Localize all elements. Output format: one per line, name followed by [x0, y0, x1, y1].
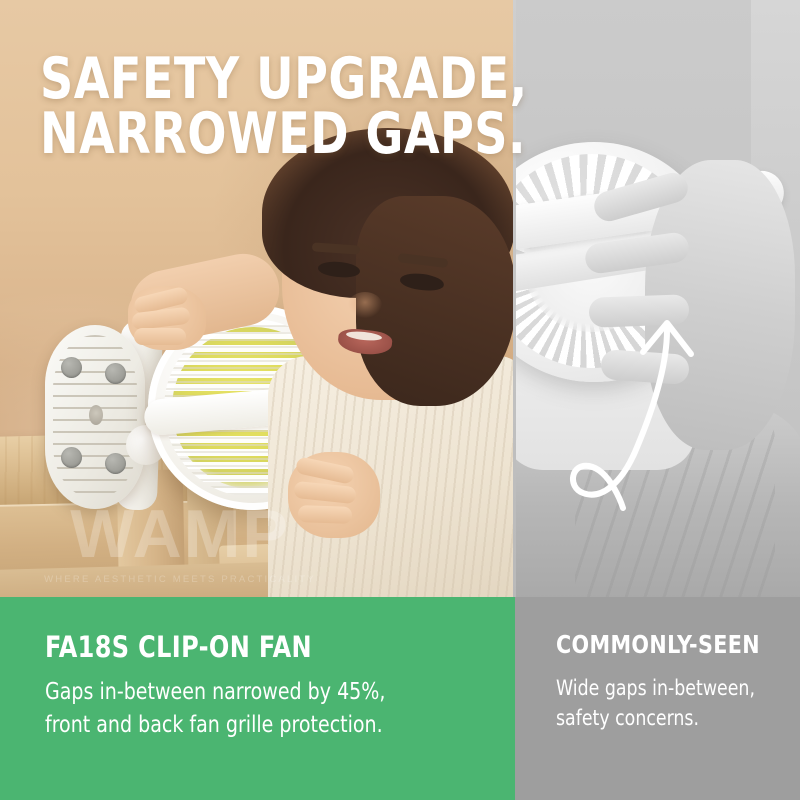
finger [298, 505, 353, 524]
right-caption-line-1: Wide gaps in-between, [556, 673, 755, 703]
left-caption-line-2: front and back fan grille protection. [45, 709, 385, 742]
rubber-pad [105, 453, 126, 474]
child-nose [348, 292, 382, 318]
child-hand-lower [288, 452, 380, 538]
rubber-pad [105, 363, 126, 384]
right-comparison-photo [515, 0, 800, 597]
adult-hand [645, 160, 795, 450]
backplate-screw-hole [89, 405, 103, 425]
child-hand-upper [128, 286, 206, 350]
finger [600, 349, 690, 385]
rubber-pad [61, 447, 82, 468]
right-caption-title: COMMONLY-SEEN [556, 630, 760, 659]
right-caption-body: Wide gaps in-between, safety concerns. [556, 673, 755, 734]
finger [589, 294, 690, 327]
right-caption-line-2: safety concerns. [556, 703, 755, 733]
rubber-pad [61, 357, 82, 378]
left-caption-title: FA18S CLIP-ON FAN [45, 630, 312, 664]
product-comparison-poster: WAMP WHERE AESTHETIC MEETS PRACTICALITY [0, 0, 800, 800]
finger [295, 456, 355, 485]
fan-clip-backplate [45, 325, 145, 509]
finger [293, 481, 356, 504]
finger [134, 328, 186, 345]
headline: SAFETY UPGRADE, NARROWED GAPS. [40, 52, 528, 161]
left-caption-body: Gaps in-between narrowed by 45%, front a… [45, 676, 385, 741]
headline-line-2: NARROWED GAPS. [40, 107, 528, 162]
left-caption-line-1: Gaps in-between narrowed by 45%, [45, 676, 385, 709]
